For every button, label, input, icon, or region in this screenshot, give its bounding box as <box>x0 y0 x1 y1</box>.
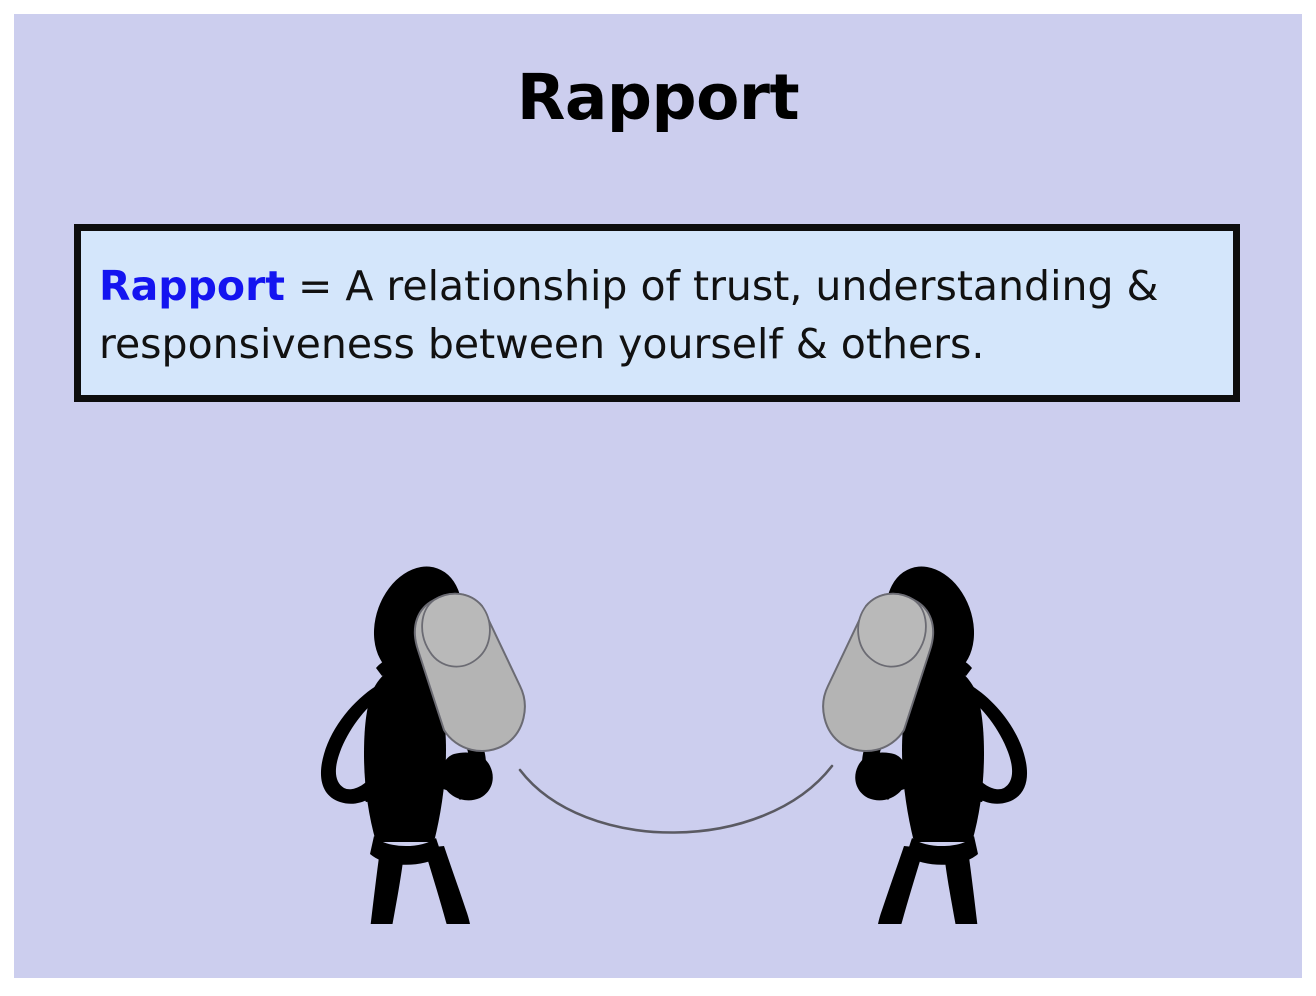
definition-text: Rapport = A relationship of trust, under… <box>99 257 1223 373</box>
slide-canvas: Rapport Rapport = A relationship of trus… <box>14 14 1302 978</box>
connecting-string-icon <box>520 766 832 833</box>
illustration-tin-can-telephone <box>284 454 1064 924</box>
right-person-with-can <box>823 554 1034 924</box>
definition-keyword: Rapport <box>99 262 285 310</box>
left-person-with-can <box>314 554 525 924</box>
page-title: Rapport <box>14 66 1302 129</box>
definition-callout-box: Rapport = A relationship of trust, under… <box>74 224 1240 402</box>
